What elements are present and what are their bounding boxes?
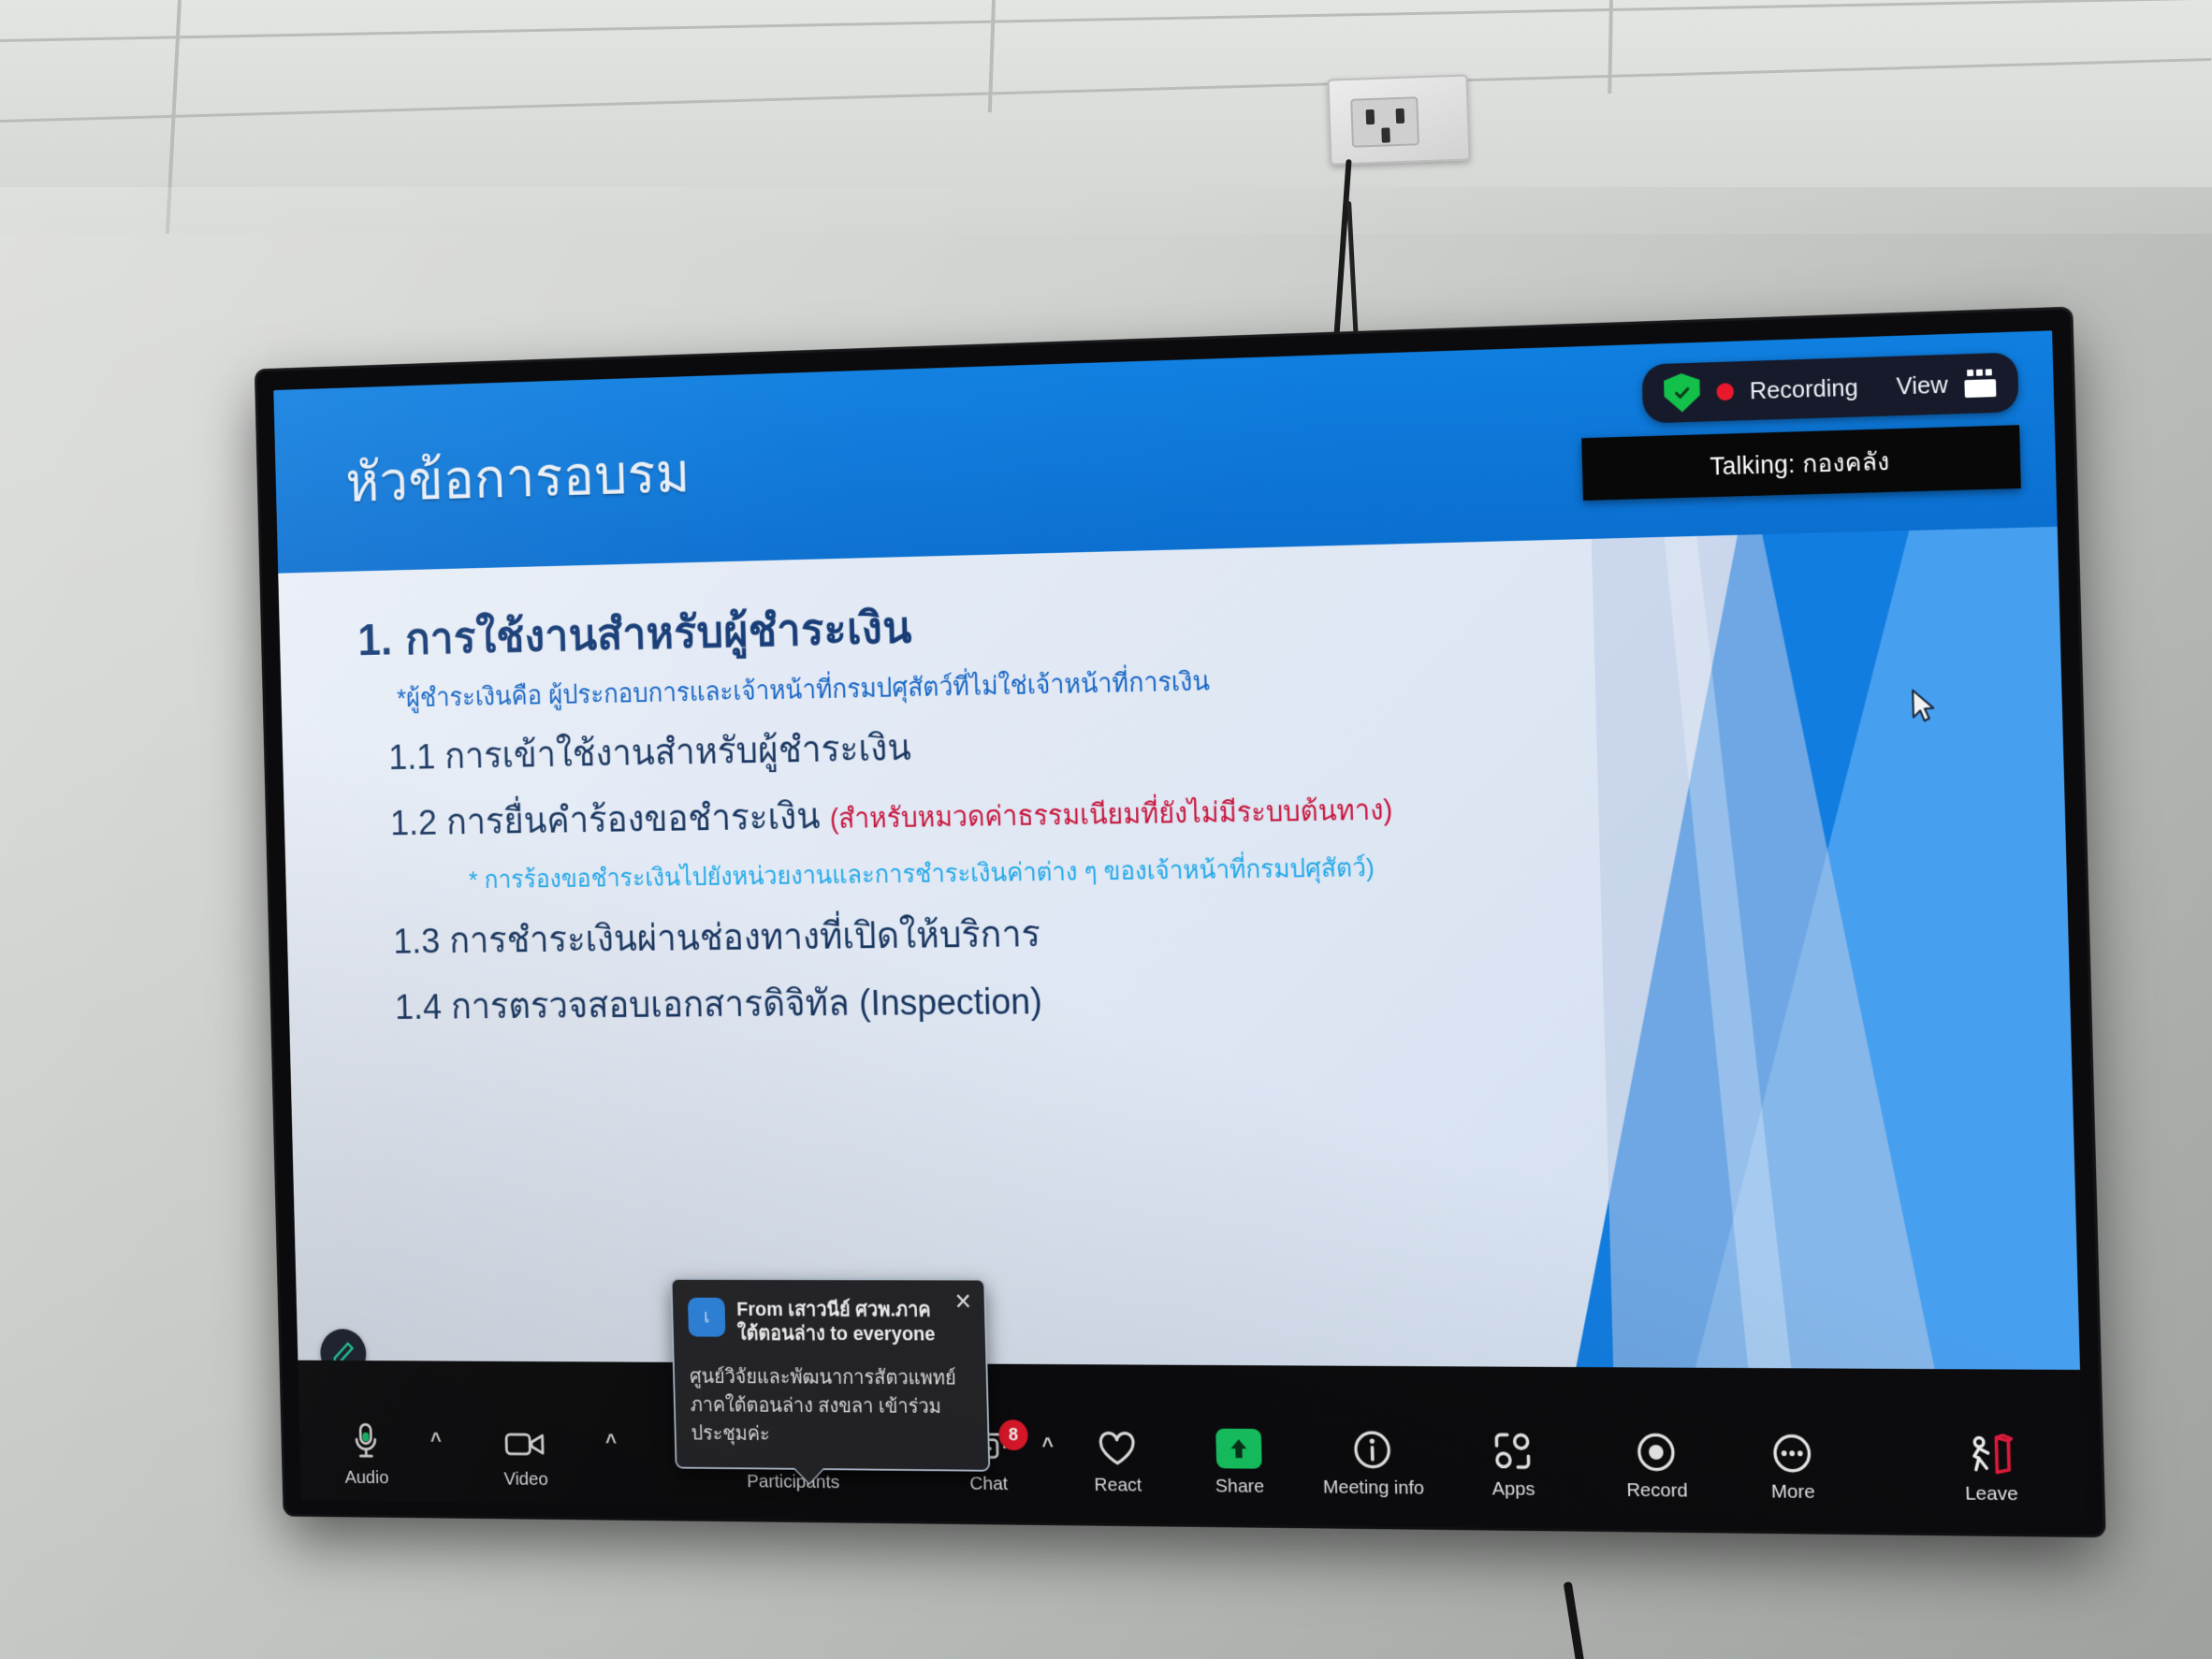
bullet-number: 1. (357, 614, 406, 665)
active-speaker-banner: Talking: กองคลัง (1581, 425, 2021, 501)
chat-unread-badge: 8 (998, 1419, 1028, 1450)
toolbar-meeting-info-button[interactable]: Meeting info (1321, 1430, 1424, 1500)
toast-header: เ From เสาวนีย์ ศวพ.ภาคใต้ตอนล่าง to eve… (688, 1297, 970, 1346)
avatar: เ (688, 1297, 725, 1336)
cursor-arrow-icon (1910, 688, 1939, 725)
bullet-item-1-2-text: 1.2 การยื่นคำร้องขอชำระเงิน (390, 795, 822, 843)
toolbar-leave-label: Leave (1965, 1483, 2018, 1506)
recording-status-pill[interactable]: Recording View (1641, 352, 2019, 423)
socket-face (1350, 96, 1419, 147)
microphone-icon (349, 1421, 383, 1460)
view-layout-icon[interactable] (1964, 369, 1996, 398)
camera-icon (504, 1426, 546, 1462)
socket-hole (1381, 127, 1390, 142)
recording-dot-icon (1716, 383, 1734, 400)
toolbar-share-button[interactable]: Share (1208, 1429, 1271, 1498)
toolbar-record-label: Record (1626, 1479, 1688, 1502)
socket-hole (1366, 109, 1375, 124)
chat-sender-line: From เสาวนีย์ ศวพ.ภาคใต้ตอนล่าง to every… (736, 1298, 970, 1346)
toolbar-record-button[interactable]: Record (1624, 1432, 1689, 1502)
audio-options-caret[interactable]: ^ (430, 1429, 442, 1452)
room-scene: หัวข้อการอบรม 1.การใช้งานสำหรับผู้ชำระเง… (0, 0, 2212, 1659)
bullet-item-1-3: 1.3 การชำระเงินผ่านช่องทางที่เปิดให้บริก… (393, 898, 1594, 970)
close-icon[interactable]: ✕ (954, 1291, 973, 1314)
toolbar-participants-label: Participants (747, 1471, 840, 1493)
toolbar-leave-button[interactable]: Leave (1957, 1433, 2024, 1506)
apps-icon (1492, 1431, 1534, 1471)
toolbar-apps-button[interactable]: Apps (1481, 1431, 1546, 1501)
ellipsis-icon (1771, 1433, 1812, 1474)
toolbar-audio-label: Audio (344, 1467, 388, 1489)
mouse-cursor (1910, 688, 1939, 730)
toolbar-audio-button[interactable]: Audio (337, 1421, 396, 1489)
tv-screen: หัวข้อการอบรม 1.การใช้งานสำหรับผู้ชำระเง… (273, 330, 2084, 1520)
bullet-item-1-2-subnote: * การร้องขอชำระเงินไปยังหน่วยงานและการชำ… (469, 845, 1592, 900)
bullet-item-1-4: 1.4 การตรวจสอบเอกสารดิจิทัล (Inspection) (394, 967, 1595, 1036)
chat-notification-toast[interactable]: ✕ เ From เสาวนีย์ ศวพ.ภาคใต้ตอนล่าง to e… (671, 1278, 991, 1472)
bullet-item-1-2-red-note: (สำหรับหมวดค่าธรรมเนียมที่ยังไม่มีระบบต้… (829, 793, 1392, 834)
video-options-caret[interactable]: ^ (605, 1430, 618, 1454)
bullet-item-1-2: 1.2 การยื่นคำร้องขอชำระเงิน (สำหรับหมวดค… (389, 774, 1590, 851)
meeting-toolbar: Audio ^ Video ^ (298, 1361, 2084, 1520)
bullet-item-1-1: 1.1 การเข้าใช้งานสำหรับผู้ชำระเงิน (388, 706, 1589, 786)
bullet-text: การใช้งานสำหรับผู้ชำระเงิน (404, 603, 912, 664)
slide-title: หัวข้อการอบรม (344, 429, 691, 526)
recording-label: Recording (1750, 372, 1858, 404)
slide-bullet-list: 1.การใช้งานสำหรับผู้ชำระเงิน *ผู้ชำระเงิ… (357, 575, 1596, 1041)
heart-icon (1098, 1432, 1137, 1468)
view-label[interactable]: View (1896, 370, 1948, 400)
shield-check-icon (1664, 372, 1701, 413)
toolbar-more-label: More (1771, 1481, 1815, 1504)
toolbar-meeting-info-label: Meeting info (1323, 1477, 1425, 1499)
ceiling-power-socket (1327, 74, 1470, 165)
leave-door-icon (1966, 1433, 2016, 1476)
chat-message-body: ศูนย์วิจัยและพัฒนาการสัตวแพทย์ภาคใต้ตอนล… (690, 1362, 973, 1449)
chat-options-caret[interactable]: ^ (1041, 1433, 1054, 1458)
toolbar-video-label: Video (503, 1469, 548, 1491)
toolbar-video-button[interactable]: Video (496, 1426, 556, 1490)
toolbar-apps-label: Apps (1492, 1478, 1535, 1501)
share-up-arrow-icon (1215, 1429, 1262, 1469)
wall-mounted-tv: หัวข้อการอบรม 1.การใช้งานสำหรับผู้ชำระเง… (257, 310, 2103, 1535)
toolbar-chat-label: Chat (969, 1473, 1008, 1494)
socket-hole (1396, 109, 1405, 124)
toolbar-react-label: React (1094, 1475, 1142, 1497)
record-circle-icon (1636, 1432, 1677, 1473)
toolbar-react-button[interactable]: React (1086, 1431, 1149, 1496)
toolbar-share-label: Share (1215, 1476, 1265, 1498)
info-circle-icon (1352, 1430, 1392, 1470)
toolbar-more-button[interactable]: More (1760, 1433, 1826, 1504)
